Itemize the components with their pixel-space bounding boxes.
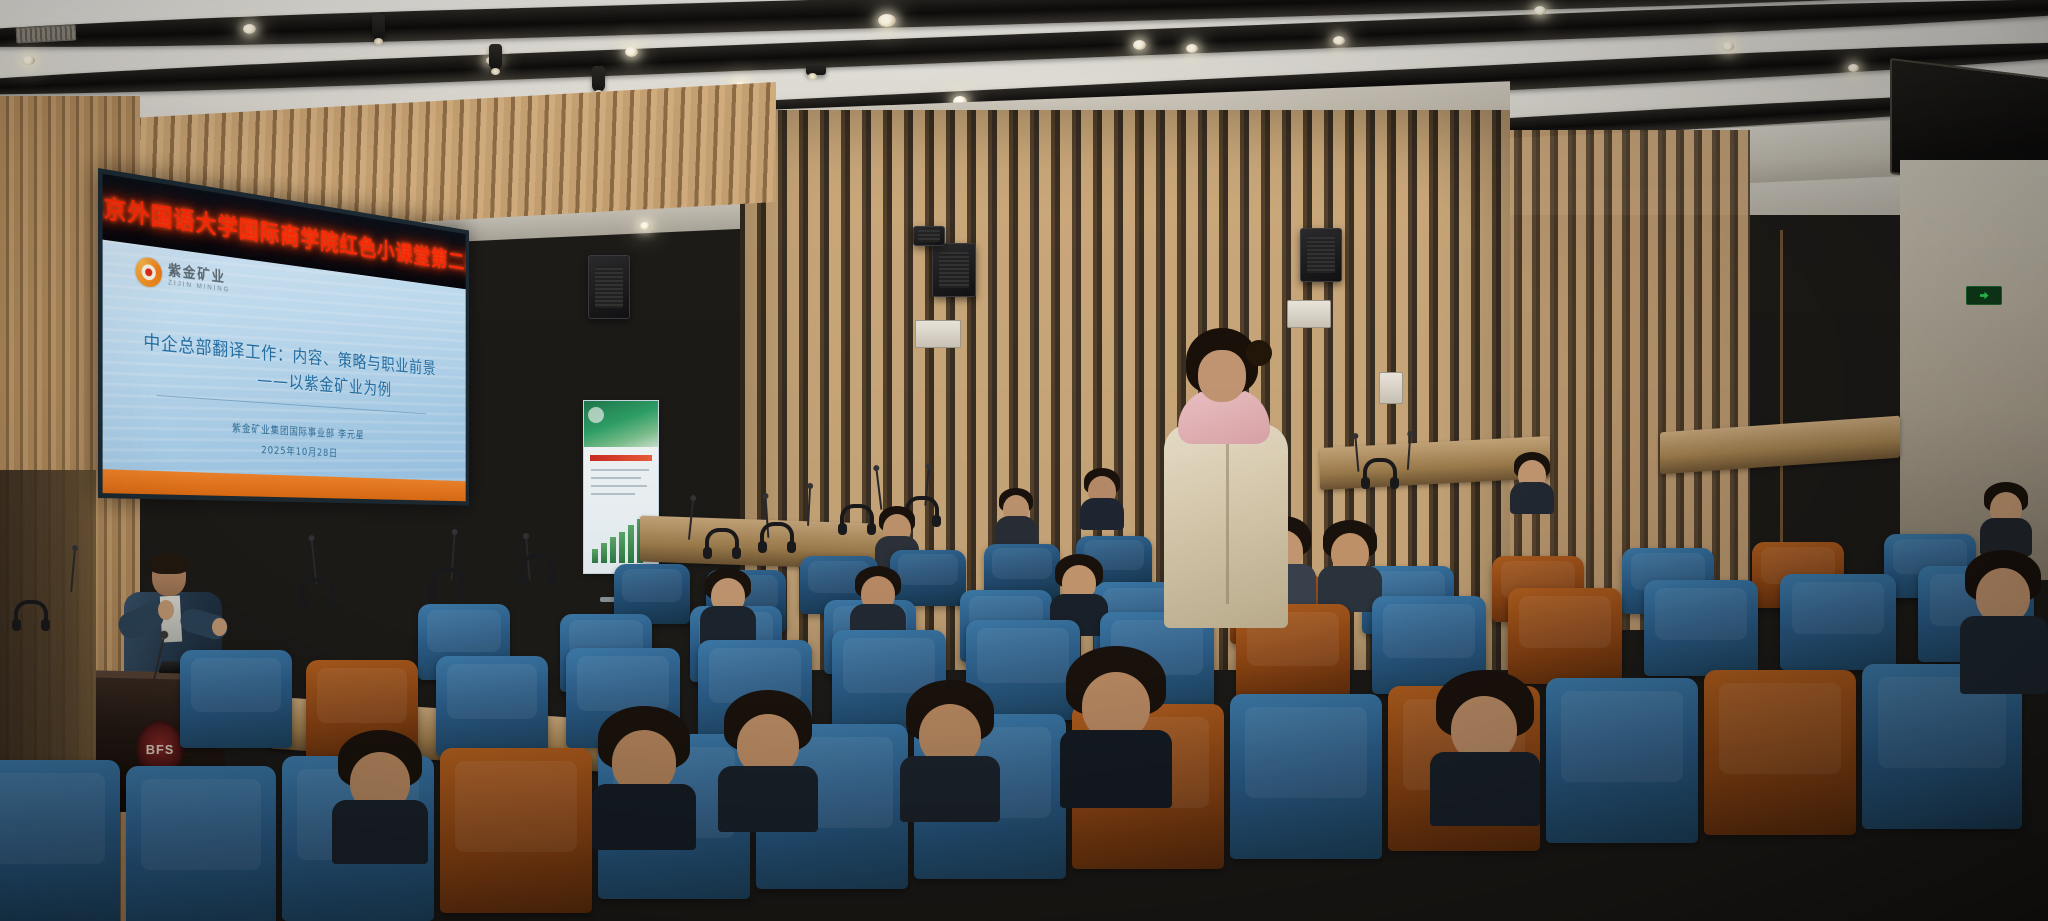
zijin-wordmark: 紫金矿业 ZIJIN MINING: [168, 263, 230, 293]
audience-body: [1510, 482, 1554, 514]
rollup-text-line: [591, 469, 649, 471]
track-spotlight: [806, 64, 826, 75]
audience-body: [592, 784, 696, 850]
audience-member: [850, 566, 906, 640]
standing-person-coat: [1164, 424, 1288, 628]
ceiling-downlight: [1133, 40, 1146, 50]
wall-speaker: [588, 255, 630, 319]
track-spotlight: [592, 66, 605, 92]
auditorium-seat: [436, 656, 548, 756]
audience-body: [1960, 616, 2048, 694]
audience-body: [1430, 752, 1540, 826]
exit-running-man-icon: [1980, 291, 1989, 300]
audience-member: [700, 568, 756, 642]
audience-member: [1080, 468, 1124, 526]
audience-body: [900, 756, 1000, 822]
standing-person-face: [1198, 350, 1246, 402]
audience-member: [900, 680, 1000, 820]
ceiling-downlight: [625, 47, 638, 57]
headset-icon: [14, 600, 48, 624]
audience-member: [1960, 550, 2048, 690]
standing-person-hair-clip: [1246, 340, 1272, 366]
exit-sign: [1966, 286, 2002, 305]
rollup-bar: [628, 525, 634, 563]
ceiling-downlight: [640, 222, 650, 230]
audience-body: [718, 766, 818, 832]
ceiling-downlight: [1534, 6, 1546, 15]
audience-member: [1430, 670, 1540, 822]
wall-speaker: [932, 243, 976, 297]
audience-body: [1060, 730, 1172, 808]
rollup-text-line: [591, 477, 641, 479]
headset-icon: [705, 528, 739, 552]
ceiling-downlight: [1333, 36, 1345, 45]
audience-member: [332, 730, 428, 860]
standing-audience-member: [1160, 328, 1290, 628]
wall-control-plate[interactable]: [915, 320, 961, 348]
audience-member: [592, 706, 696, 848]
auditorium-seat: [126, 766, 276, 921]
auditorium-seat: [0, 760, 120, 921]
audience-member: [1318, 520, 1382, 610]
auditorium-photo: 北京外国语大学国际商学院红色小课堂第二期 紫金矿业 ZIJIN MINING 中…: [0, 0, 2048, 921]
wall-control-plate[interactable]: [1287, 300, 1331, 328]
audience-member: [995, 488, 1037, 544]
ceiling-downlight: [1186, 44, 1198, 53]
auditorium-seat: [180, 650, 292, 748]
slide-footer-bar: [103, 469, 466, 501]
auditorium-seat: [1780, 574, 1896, 670]
rollup-bar: [619, 532, 625, 563]
ceiling-downlight: [878, 14, 896, 27]
rollup-text-line: [591, 485, 647, 487]
auditorium-seat: [440, 748, 592, 913]
track-spotlight: [372, 14, 385, 40]
audience-body: [995, 516, 1037, 546]
audience-member: [1060, 646, 1172, 806]
headset-icon: [1363, 458, 1397, 482]
audience-member: [1510, 452, 1554, 510]
audience-member: [718, 690, 818, 830]
headset-icon: [430, 568, 464, 592]
ceiling-downlight: [1722, 42, 1734, 51]
auditorium-seat: [1230, 694, 1382, 859]
wall-control-plate[interactable]: [1379, 372, 1403, 404]
auditorium-seat: [1644, 580, 1758, 676]
ceiling-downlight: [22, 56, 35, 65]
wall-speaker: [1300, 228, 1342, 282]
audience-member: [1980, 482, 2032, 552]
zijin-logo: 紫金矿业 ZIJIN MINING: [135, 256, 230, 297]
audience-body: [332, 800, 428, 864]
headset-icon: [760, 522, 794, 546]
ceiling-downlight: [243, 24, 256, 34]
seating-area: [0, 560, 2048, 921]
headset-icon: [520, 554, 554, 578]
rollup-text-line: [591, 493, 635, 495]
rollup-banner-header: [584, 401, 658, 447]
auditorium-seat: [1704, 670, 1856, 835]
wall-speaker: [913, 226, 945, 246]
headset-icon: [300, 578, 334, 602]
audience-body: [1080, 498, 1124, 530]
ceiling-downlight: [1848, 64, 1859, 72]
auditorium-seat: [1546, 678, 1698, 843]
rollup-banner-accent: [590, 455, 652, 461]
track-spotlight: [489, 44, 502, 70]
slide-body: 中企总部翻译工作：内容、策略与职业前景 ——以紫金矿业为例 紫金矿业集团国际事业…: [103, 323, 466, 465]
zijin-sunburst-icon: [135, 256, 162, 289]
headset-icon: [840, 504, 874, 528]
ceiling-air-vent: [16, 24, 77, 43]
